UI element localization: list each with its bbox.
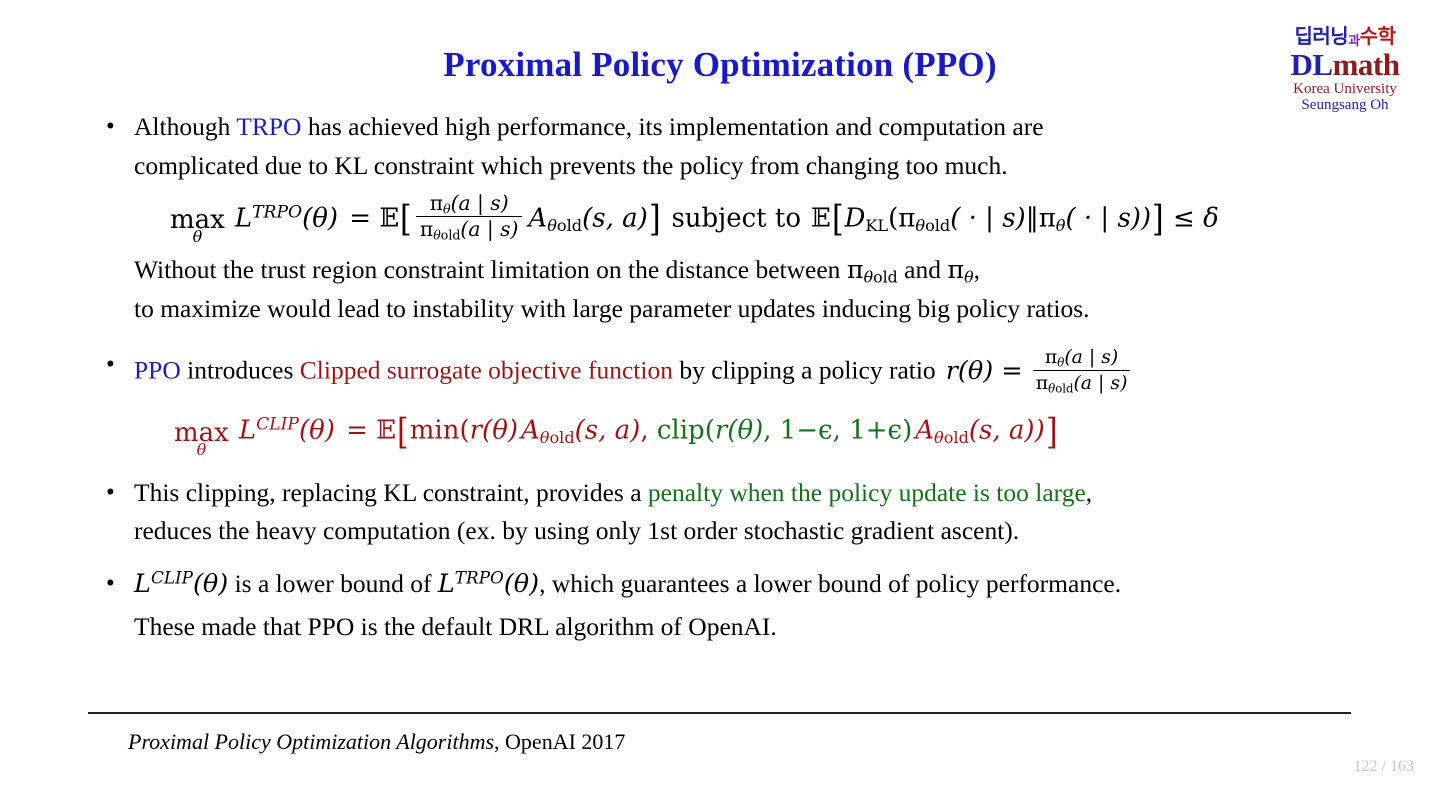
left-bracket: [ <box>832 193 844 246</box>
bullet-line: Although TRPO has achieved high performa… <box>134 108 1362 147</box>
policy-ratio-definition: r(θ) = πθ(a | s)πθold(a | s) <box>946 356 1133 386</box>
bullet-line: reduces the heavy computation (ex. by us… <box>134 512 1362 551</box>
L-symbol: L <box>239 416 256 446</box>
right-bracket: ] <box>1046 406 1058 459</box>
bullet-line: LCLIP(θ) is a lower bound of LTRPO(θ), w… <box>134 565 1362 604</box>
text-segment: , which guarantees a lower bound of poli… <box>539 569 1121 598</box>
bullet-icon: • <box>106 474 115 512</box>
text-segment: has achieved high performance, its imple… <box>301 112 1043 141</box>
bullet-ppo-clipped: • PPO introduces Clipped surrogate objec… <box>92 346 1362 396</box>
fraction-denominator: πθold(a | s) <box>416 216 523 243</box>
text-segment: Without the trust region constraint limi… <box>134 255 847 284</box>
text-segment: , <box>1086 478 1092 507</box>
text-segment: introduces <box>181 356 300 385</box>
L-superscript: TRPO <box>252 202 302 222</box>
pi-theta-symbol: πθ <box>947 255 973 285</box>
pi-theta-old-symbol: πθold <box>847 255 898 285</box>
text-segment: , <box>974 255 980 284</box>
left-bracket: [ <box>397 406 409 459</box>
max-subscript: θ <box>174 438 229 462</box>
paragraph-line: Without the trust region constraint limi… <box>134 251 1362 290</box>
right-bracket: ] <box>1152 193 1164 246</box>
less-than-equal-sign: ≤ <box>1173 203 1195 233</box>
text-segment: is a lower bound of <box>228 569 438 598</box>
bullet-icon: • <box>106 108 115 146</box>
slide-body: • Although TRPO has achieved high perfor… <box>92 108 1362 647</box>
bullet-line: complicated due to KL constraint which p… <box>134 147 1362 186</box>
bullet-trpo-limitation: • Although TRPO has achieved high perfor… <box>92 108 1362 186</box>
L-superscript: CLIP <box>256 415 299 435</box>
theta-argument: (θ) <box>302 203 338 233</box>
expectation-symbol: 𝔼 <box>376 416 396 446</box>
advantage-symbol: A <box>915 416 934 446</box>
clip-label: clip <box>657 416 705 446</box>
trpo-highlight: TRPO <box>236 112 301 141</box>
advantage-symbol: A <box>521 416 540 446</box>
reference-source: , OpenAI 2017 <box>494 729 625 754</box>
ppo-highlight: PPO <box>134 356 181 385</box>
reference-title: Proximal Policy Optimization Algorithms <box>128 729 494 754</box>
min-operator: min <box>410 416 460 446</box>
max-operator: maxθ <box>170 201 225 241</box>
fraction-denominator: πθold(a | s) <box>1033 370 1131 396</box>
bullet-line: This clipping, replacing KL constraint, … <box>134 474 1362 513</box>
bullet-line: These made that PPO is the default DRL a… <box>134 608 1362 647</box>
expectation-symbol: 𝔼 <box>379 203 399 233</box>
delta-symbol: δ <box>1203 203 1219 233</box>
left-bracket: [ <box>400 193 412 246</box>
policy-ratio-fraction: πθ(a | s)πθold(a | s) <box>416 192 523 244</box>
text-segment: Although <box>134 112 236 141</box>
bullet-icon: • <box>106 346 115 384</box>
equals-sign: = <box>346 416 368 446</box>
penalty-highlight: penalty when the policy update is too la… <box>648 478 1086 507</box>
fraction-numerator: πθ(a | s) <box>1033 346 1131 370</box>
text-segment: by clipping a policy ratio <box>673 356 936 385</box>
expectation-symbol: 𝔼 <box>811 203 831 233</box>
clipped-objective-highlight: Clipped surrogate objective function <box>300 356 673 385</box>
max-subscript: θ <box>170 225 225 249</box>
bullet-line: PPO introduces Clipped surrogate objecti… <box>134 346 1362 396</box>
text-segment: and <box>898 255 948 284</box>
slide-title: Proximal Policy Optimization (PPO) <box>0 45 1440 85</box>
fraction-numerator: πθ(a | s) <box>416 192 523 217</box>
paragraph-trust-region: Without the trust region constraint limi… <box>92 251 1362 329</box>
right-bracket: ] <box>649 193 661 246</box>
L-trpo-symbol: LTRPO(θ) <box>438 569 539 599</box>
L-symbol: L <box>235 203 252 233</box>
bullet-icon: • <box>106 565 115 603</box>
theta-argument: (θ) <box>299 416 335 446</box>
equals-sign: = <box>349 203 371 233</box>
clip-upper-bound: 1+ϵ <box>849 416 902 446</box>
advantage-symbol: A <box>528 203 547 233</box>
clip-lower-bound: 1−ϵ <box>780 416 833 446</box>
equation-trpo-objective: maxθLTRPO(θ) = 𝔼[πθ(a | s)πθold(a | s)Aθ… <box>92 192 1362 247</box>
footer-divider <box>88 712 1351 714</box>
text-segment: This clipping, replacing KL constraint, … <box>134 478 648 507</box>
clip-function-group: clip(r(θ), 1−ϵ, 1+ϵ) <box>657 416 912 446</box>
ratio-fraction: πθ(a | s)πθold(a | s) <box>1033 346 1131 396</box>
bullet-clipping-penalty: • This clipping, replacing KL constraint… <box>92 474 1362 552</box>
equation-clip-objective: maxθLCLIP(θ) = 𝔼[min(r(θ)Aθold(s, a), cl… <box>92 406 1362 459</box>
bullet-lower-bound: • LCLIP(θ) is a lower bound of LTRPO(θ),… <box>92 565 1362 647</box>
kl-divergence-symbol: D <box>845 203 866 233</box>
paragraph-line: to maximize would lead to instability wi… <box>134 290 1362 329</box>
page-number: 122 / 163 <box>1354 758 1414 776</box>
max-operator: maxθ <box>174 414 229 454</box>
L-clip-symbol: LCLIP(θ) <box>134 569 228 599</box>
footer-reference: Proximal Policy Optimization Algorithms,… <box>128 729 625 755</box>
subject-to-text: subject to <box>671 203 801 233</box>
